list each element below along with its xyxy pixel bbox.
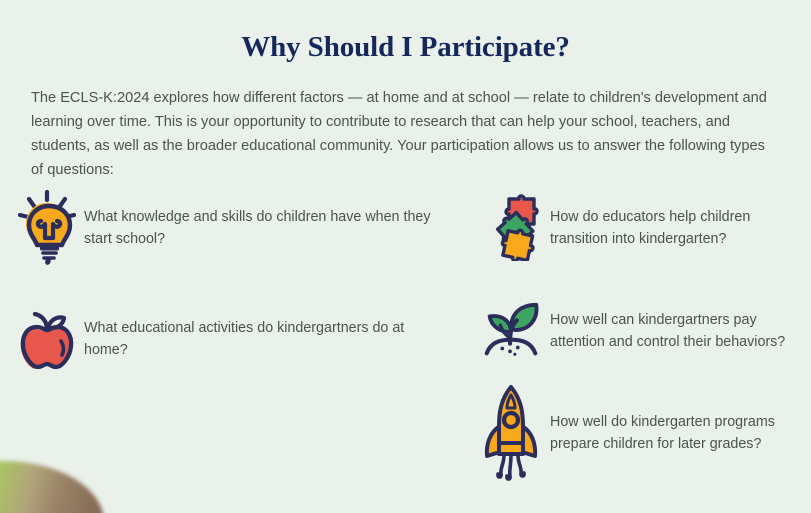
- sprout-icon: [478, 289, 544, 371]
- page-title: Why Should I Participate?: [0, 31, 811, 64]
- question-grid: What knowledge and skills do children ha…: [0, 186, 811, 506]
- question-text: What educational activities do kindergar…: [80, 297, 434, 361]
- question-item-attention-behavior: How well can kindergartners pay attentio…: [478, 289, 811, 371]
- intro-paragraph: The ECLS-K:2024 explores how different f…: [31, 86, 769, 183]
- rocket-icon: [478, 391, 544, 473]
- question-text: How well do kindergarten programs prepar…: [544, 391, 811, 455]
- apple-icon: [14, 297, 80, 379]
- question-item-home-activities: What educational activities do kindergar…: [14, 297, 434, 379]
- question-item-knowledge-skills: What knowledge and skills do children ha…: [14, 186, 434, 268]
- question-item-transition: How do educators help children transitio…: [478, 186, 811, 268]
- question-item-later-grades: How well do kindergarten programs prepar…: [478, 391, 811, 473]
- lightbulb-icon: [14, 186, 80, 268]
- puzzle-pieces-icon: [478, 186, 544, 268]
- question-text: How do educators help children transitio…: [544, 186, 811, 250]
- question-text: How well can kindergartners pay attentio…: [544, 289, 811, 353]
- participate-section: Why Should I Participate? The ECLS-K:202…: [0, 0, 811, 513]
- question-text: What knowledge and skills do children ha…: [80, 186, 434, 250]
